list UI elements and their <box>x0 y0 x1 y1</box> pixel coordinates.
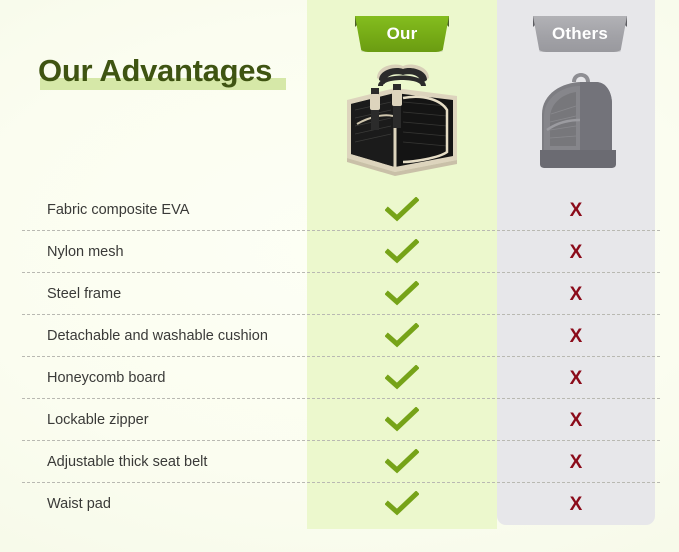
cell-ours <box>307 189 497 231</box>
table-row: Adjustable thick seat belt X <box>0 441 679 483</box>
table-row: Lockable zipper X <box>0 399 679 441</box>
product-image-others <box>520 52 640 178</box>
cell-ours <box>307 399 497 441</box>
title-text: Our Advantages <box>38 52 272 90</box>
check-icon <box>385 491 419 517</box>
x-icon: X <box>570 453 583 472</box>
column-header-ours: Our <box>355 16 449 52</box>
row-label: Detachable and washable cushion <box>47 315 268 357</box>
comparison-rows: Fabric composite EVA X Nylon mesh X Stee… <box>0 189 679 525</box>
table-row: Nylon mesh X <box>0 231 679 273</box>
check-icon <box>385 197 419 223</box>
row-label: Waist pad <box>47 483 111 525</box>
cell-others: X <box>497 315 655 357</box>
check-icon <box>385 365 419 391</box>
row-label: Adjustable thick seat belt <box>47 441 207 483</box>
x-icon: X <box>570 411 583 430</box>
page-title: Our Advantages <box>38 52 288 98</box>
check-icon <box>385 323 419 349</box>
row-label: Honeycomb board <box>47 357 166 399</box>
table-row: Steel frame X <box>0 273 679 315</box>
check-icon <box>385 281 419 307</box>
table-row: Fabric composite EVA X <box>0 189 679 231</box>
cell-others: X <box>497 189 655 231</box>
cell-others: X <box>497 273 655 315</box>
x-icon: X <box>570 495 583 514</box>
cell-ours <box>307 273 497 315</box>
row-label: Steel frame <box>47 273 121 315</box>
column-header-ours-label: Our <box>387 24 418 44</box>
cell-ours <box>307 231 497 273</box>
cell-ours <box>307 357 497 399</box>
cell-ours <box>307 483 497 525</box>
check-icon <box>385 407 419 433</box>
table-row: Honeycomb board X <box>0 357 679 399</box>
x-icon: X <box>570 369 583 388</box>
cell-others: X <box>497 399 655 441</box>
cell-others: X <box>497 483 655 525</box>
x-icon: X <box>570 285 583 304</box>
row-label: Nylon mesh <box>47 231 124 273</box>
column-header-others-label: Others <box>552 24 608 44</box>
x-icon: X <box>570 327 583 346</box>
cell-ours <box>307 441 497 483</box>
cell-others: X <box>497 441 655 483</box>
cell-ours <box>307 315 497 357</box>
row-label: Lockable zipper <box>47 399 149 441</box>
column-header-others: Others <box>533 16 627 52</box>
product-image-ours <box>333 52 473 178</box>
table-row: Waist pad X <box>0 483 679 525</box>
x-icon: X <box>570 243 583 262</box>
comparison-chart: Our Advantages <box>0 0 679 552</box>
check-icon <box>385 239 419 265</box>
x-icon: X <box>570 201 583 220</box>
row-label: Fabric composite EVA <box>47 189 189 231</box>
table-row: Detachable and washable cushion X <box>0 315 679 357</box>
cell-others: X <box>497 357 655 399</box>
cell-others: X <box>497 231 655 273</box>
check-icon <box>385 449 419 475</box>
